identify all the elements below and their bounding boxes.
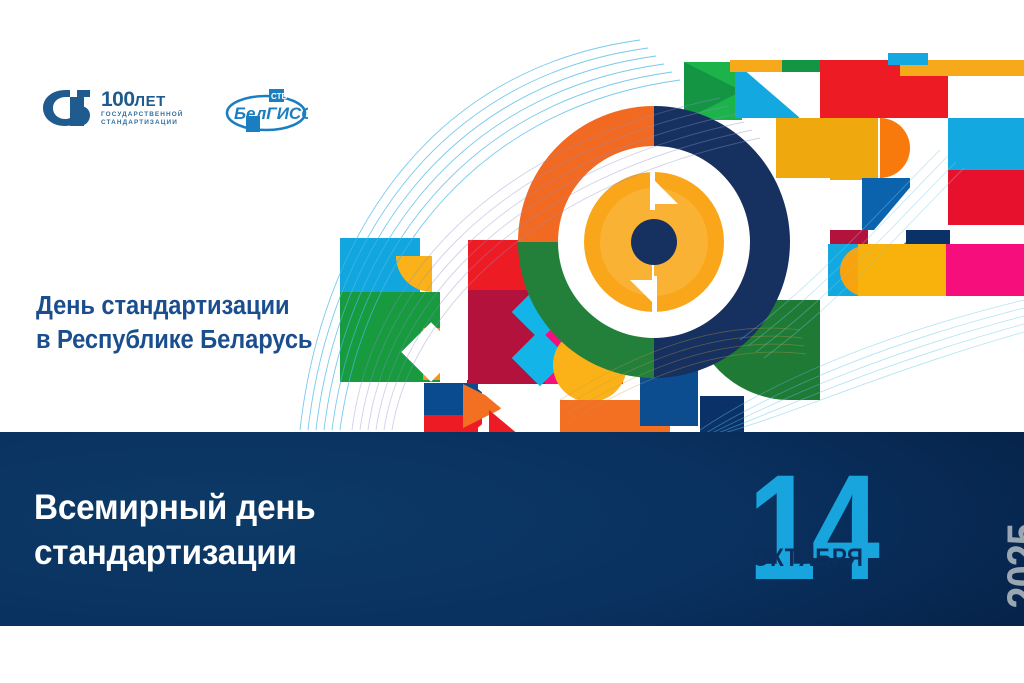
mosaic-block-orange-halfcircle xyxy=(880,118,910,178)
mosaic-block-magenta-right xyxy=(946,244,1024,296)
mosaic-block-amber-top-strip xyxy=(730,60,782,72)
emblem-center-dot xyxy=(631,219,677,265)
stb-years-label: ЛЕТ xyxy=(135,93,166,110)
logo-row: 100ЛЕТ ГОСУДАРСТВЕННОЙ СТАНДАРТИЗАЦИИ СТ… xyxy=(40,82,308,134)
stb-subtitle-line2: СТАНДАРТИЗАЦИИ xyxy=(101,120,184,126)
date-block: 14 ОКТЯБРЯ 2025 xyxy=(740,448,990,616)
logo-stb-100: 100ЛЕТ ГОСУДАРСТВЕННОЙ СТАНДАРТИЗАЦИИ xyxy=(40,88,184,128)
standardization-target-emblem xyxy=(518,106,790,378)
mosaic-block-red-right xyxy=(948,170,1024,225)
bottom-navy-band: Всемирный день стандартизации 14 ОКТЯБРЯ… xyxy=(0,432,1024,626)
stb-logo-text: 100ЛЕТ ГОСУДАРСТВЕННОЙ СТАНДАРТИЗАЦИИ xyxy=(101,89,184,126)
poster-canvas: 100ЛЕТ ГОСУДАРСТВЕННОЙ СТАНДАРТИЗАЦИИ СТ… xyxy=(0,0,1024,683)
logo-belgiss: СТБ БелГИСС xyxy=(224,82,308,134)
stb-subtitle-line1: ГОСУДАРСТВЕННОЙ xyxy=(101,112,184,118)
artwork-area: 100ЛЕТ ГОСУДАРСТВЕННОЙ СТАНДАРТИЗАЦИИ СТ… xyxy=(0,0,1024,433)
stb-100-number: 100 xyxy=(101,88,135,111)
mosaic-block-amber-right xyxy=(830,118,878,180)
band-title: Всемирный день стандартизации xyxy=(34,486,316,576)
svg-text:БелГИСС: БелГИСС xyxy=(234,104,308,123)
mosaic-block-cyan-right xyxy=(948,118,1024,170)
stb-100-years: 100ЛЕТ xyxy=(101,89,184,110)
mosaic-block-white-mask-left xyxy=(440,230,468,380)
date-month: ОКТЯБРЯ xyxy=(752,544,863,573)
svg-text:СТБ: СТБ xyxy=(271,92,287,101)
headline-white-section: День стандартизации в Республике Беларус… xyxy=(36,290,312,358)
date-year: 2025 xyxy=(996,524,1024,609)
mosaic-block-navy-square-lower-2 xyxy=(700,396,744,433)
mosaic-block-cyan-topbar xyxy=(888,53,928,65)
date-day: 14 xyxy=(748,452,875,602)
stb-monogram-icon xyxy=(40,88,92,128)
mosaic-block-amber-lower-right xyxy=(858,244,946,296)
